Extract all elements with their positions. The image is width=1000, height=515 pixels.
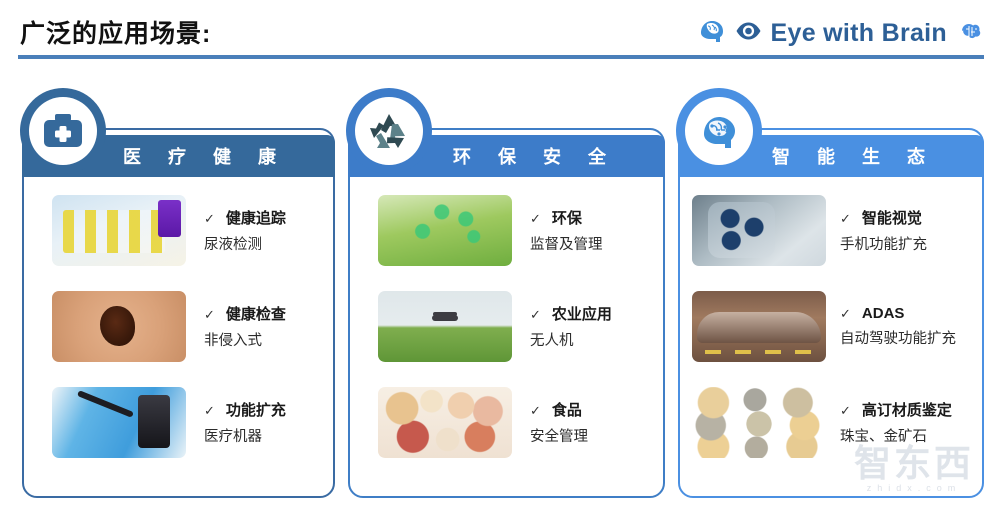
- brain-head-icon: [696, 17, 726, 50]
- item-subtitle: 自动驾驶功能扩充: [840, 327, 956, 348]
- item-title: 环保: [552, 207, 582, 228]
- item-title: 健康追踪: [226, 207, 286, 228]
- list-item[interactable]: ✓ 环保 监督及管理: [350, 182, 663, 278]
- card-title-environment: 环 保 安 全: [453, 143, 617, 169]
- agriculture-drone-photo: [378, 291, 512, 362]
- badge-smart-ecology: [676, 88, 762, 174]
- item-title: 食品: [552, 399, 582, 420]
- eye-icon: [735, 21, 762, 46]
- badge-medical: [20, 88, 106, 174]
- brain-icon: [956, 20, 984, 47]
- item-subtitle: 非侵入式: [204, 329, 286, 350]
- item-title: ADAS: [862, 305, 905, 322]
- check-icon: ✓: [204, 403, 215, 419]
- list-item[interactable]: ✓ 健康检查 非侵入式: [24, 278, 333, 374]
- item-subtitle: 无人机: [530, 329, 612, 350]
- badge-environment: [346, 88, 432, 174]
- item-subtitle: 安全管理: [530, 425, 588, 446]
- item-title: 农业应用: [552, 303, 612, 324]
- list-item[interactable]: ✓ 农业应用 无人机: [350, 278, 663, 374]
- check-icon: ✓: [530, 211, 541, 227]
- recycle-icon: [355, 97, 423, 165]
- urine-test-tubes-photo: [52, 195, 186, 266]
- list-item[interactable]: ✓ 食品 安全管理: [350, 374, 663, 470]
- list-item[interactable]: ✓ 高订材质鉴定 珠宝、金矿石: [680, 374, 982, 470]
- card-title-medical: 医 疗 健 康: [123, 143, 287, 169]
- title-divider: [18, 55, 984, 59]
- ai-brain-head-icon: [685, 97, 753, 165]
- rows-medical: ✓ 健康追踪 尿液检测 ✓ 健康检查 非侵入式 ✓ 功能扩充: [24, 182, 333, 470]
- item-title: 智能视觉: [862, 207, 922, 228]
- medical-kit-icon: [29, 97, 97, 165]
- list-item[interactable]: ✓ ADAS 自动驾驶功能扩充: [680, 278, 982, 374]
- page-title: 广泛的应用场景:: [20, 14, 211, 50]
- smartphone-camera-photo: [692, 195, 826, 266]
- green-eco-tech-photo: [378, 195, 512, 266]
- list-item[interactable]: ✓ 健康追踪 尿液检测: [24, 182, 333, 278]
- item-subtitle: 尿液检测: [204, 233, 286, 254]
- rows-environment: ✓ 环保 监督及管理 ✓ 农业应用 无人机 ✓ 食品: [350, 182, 663, 470]
- check-icon: ✓: [204, 307, 215, 323]
- check-icon: ✓: [530, 307, 541, 323]
- check-icon: ✓: [840, 211, 851, 227]
- endoscope-device-photo: [52, 387, 186, 458]
- skin-mole-photo: [52, 291, 186, 362]
- food-assortment-photo: [378, 387, 512, 458]
- item-subtitle: 手机功能扩充: [840, 233, 927, 254]
- brand-name: Eye with Brain: [771, 19, 947, 48]
- list-item[interactable]: ✓ 功能扩充 医疗机器: [24, 374, 333, 470]
- item-title: 高订材质鉴定: [862, 399, 952, 420]
- brand-logo: Eye with Brain: [696, 14, 984, 52]
- card-title-smart-ecology: 智 能 生 态: [772, 143, 936, 169]
- item-subtitle: 监督及管理: [530, 233, 603, 254]
- check-icon: ✓: [840, 403, 851, 419]
- check-icon: ✓: [204, 211, 215, 227]
- item-subtitle: 珠宝、金矿石: [840, 425, 952, 446]
- check-icon: ✓: [840, 306, 851, 322]
- check-icon: ✓: [530, 403, 541, 419]
- mineral-rocks-photo: [692, 387, 826, 458]
- slide-root: 广泛的应用场景: Eye with Brain: [0, 0, 1000, 515]
- rows-smart-ecology: ✓ 智能视觉 手机功能扩充 ✓ ADAS 自动驾驶功能扩充 ✓ 高订材质: [680, 182, 982, 470]
- item-title: 功能扩充: [226, 399, 286, 420]
- list-item[interactable]: ✓ 智能视觉 手机功能扩充: [680, 182, 982, 278]
- autonomous-car-photo: [692, 291, 826, 362]
- item-subtitle: 医疗机器: [204, 425, 286, 446]
- item-title: 健康检查: [226, 303, 286, 324]
